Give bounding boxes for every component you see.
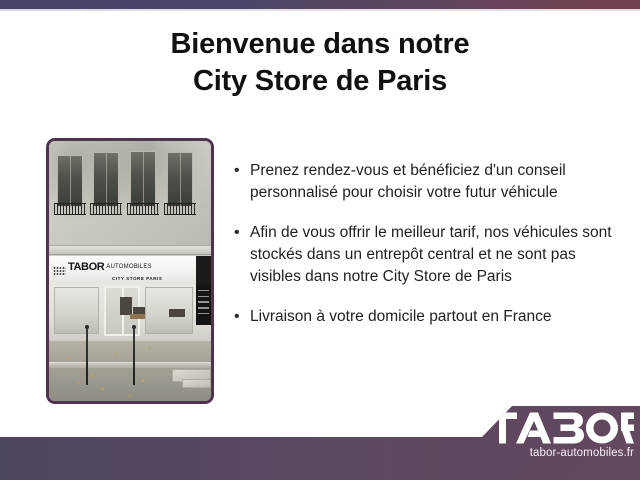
slide-canvas: Bienvenue dans notre City Store de Paris <box>0 0 640 480</box>
list-item: • Prenez rendez-vous et bénéficiez d'un … <box>234 160 626 204</box>
shop-sign-dot-pattern <box>53 266 66 275</box>
shop-sign-sub2: CITY STORE PARIS <box>112 276 162 281</box>
shop-window-left <box>54 287 99 334</box>
title-line-2: City Store de Paris <box>0 63 640 100</box>
photo-pavement <box>49 341 211 401</box>
street-bollard <box>133 328 135 385</box>
title-line-1: Bienvenue dans notre <box>0 26 640 63</box>
bullet-marker-icon: • <box>234 222 250 244</box>
facade-window <box>93 152 119 207</box>
shop-side-panel <box>196 284 211 325</box>
bullet-text: Afin de vous offrir le meilleur tarif, n… <box>250 222 626 288</box>
facade-window <box>167 152 193 207</box>
shop-interior-unit <box>169 309 185 317</box>
shopfront-glazing <box>49 284 211 341</box>
storefront-photo: TABORAUTOMOBILES CITY STORE PARIS <box>49 141 211 401</box>
storefront-photo-frame: TABORAUTOMOBILES CITY STORE PARIS <box>46 138 214 404</box>
shop-sign-text: TABORAUTOMOBILES CITY STORE PARIS <box>68 259 162 281</box>
shop-sign-right-strip <box>196 256 211 285</box>
photo-facade <box>49 141 211 255</box>
pavement-stone-block <box>182 379 211 387</box>
shop-sign-sub: AUTOMOBILES <box>106 264 151 270</box>
shop-interior-shadow <box>120 297 131 315</box>
top-accent-bar <box>0 0 640 9</box>
facade-cornice <box>49 245 211 255</box>
bullet-text: Livraison à votre domicile partout en Fr… <box>250 306 626 328</box>
list-item: • Livraison à votre domicile partout en … <box>234 306 626 328</box>
bullet-marker-icon: • <box>234 160 250 182</box>
top-accent-hairline <box>0 9 640 11</box>
facade-window <box>130 151 156 207</box>
bullet-list: • Prenez rendez-vous et bénéficiez d'un … <box>234 160 626 346</box>
facade-window <box>57 155 83 208</box>
page-title: Bienvenue dans notre City Store de Paris <box>0 26 640 100</box>
tabor-wordmark-logo <box>488 412 634 444</box>
facade-balcony <box>54 203 86 215</box>
facade-balcony <box>127 203 159 215</box>
bullet-marker-icon: • <box>234 306 250 328</box>
brand-logo-block: tabor-automobiles.fr <box>440 406 640 480</box>
facade-balcony <box>164 203 196 215</box>
street-bollard <box>86 328 88 385</box>
shop-sign-brand: TABOR <box>68 261 104 273</box>
pavement-curb <box>49 362 211 368</box>
facade-balcony <box>90 203 122 215</box>
shop-sign-band: TABORAUTOMOBILES CITY STORE PARIS <box>49 255 211 286</box>
list-item: • Afin de vous offrir le meilleur tarif,… <box>234 222 626 288</box>
brand-website-url: tabor-automobiles.fr <box>490 446 634 460</box>
bullet-text: Prenez rendez-vous et bénéficiez d'un co… <box>250 160 626 204</box>
